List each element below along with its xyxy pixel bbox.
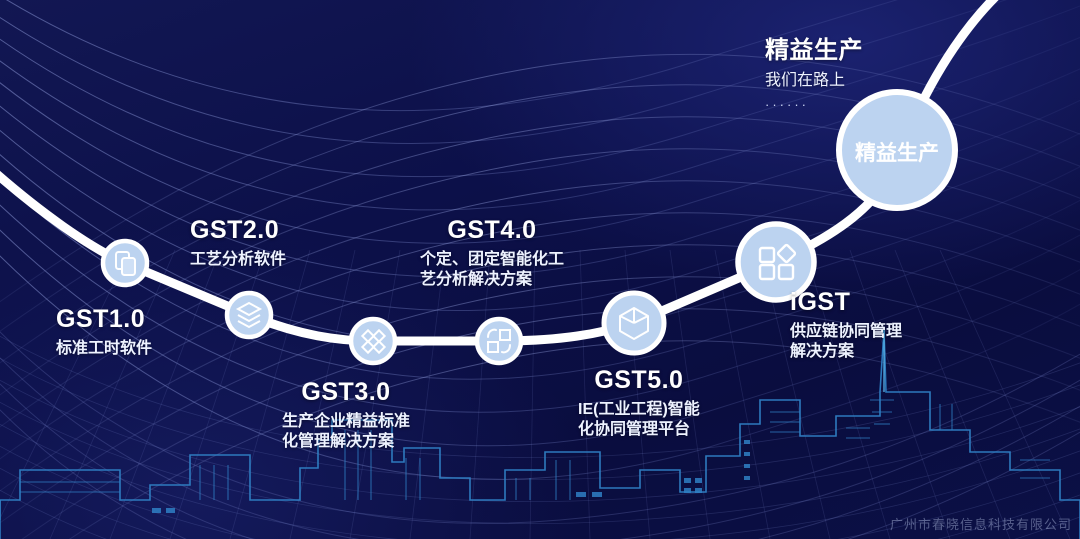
milestone-title: GST2.0 <box>190 216 286 245</box>
lean-dots: ······ <box>765 97 863 112</box>
lean-production-callout: 精益生产 我们在路上 ······ <box>765 30 863 112</box>
watermark: 广州市春晓信息科技有限公司 <box>890 514 1072 533</box>
milestone-desc: 工艺分析软件 <box>190 250 286 270</box>
node-gst1 <box>103 241 147 285</box>
milestone-title: GST4.0 <box>420 216 564 245</box>
milestone-desc: 标准工时软件 <box>56 339 152 359</box>
milestone-label-gst5: GST5.0 IE(工业工程)智能 化协同管理平台 <box>578 366 700 439</box>
milestone-desc: 个定、团定智能化工 艺分析解决方案 <box>420 250 564 289</box>
milestone-label-igst: iGST 供应链协同管理 解决方案 <box>790 288 902 361</box>
milestone-title: GST1.0 <box>56 305 152 334</box>
milestone-label-gst2: GST2.0 工艺分析软件 <box>190 216 286 270</box>
milestone-title: iGST <box>790 288 902 317</box>
node-gst5 <box>604 293 664 353</box>
milestone-title: GST3.0 <box>282 378 410 407</box>
milestone-desc: 生产企业精益标准 化管理解决方案 <box>282 412 410 451</box>
milestone-label-gst1: GST1.0 标准工时软件 <box>56 305 152 359</box>
lean-title: 精益生产 <box>765 30 863 65</box>
lean-subtitle: 我们在路上 <box>765 71 863 91</box>
milestone-title: GST5.0 <box>578 366 700 395</box>
node-gst4 <box>477 319 521 363</box>
milestone-label-gst4: GST4.0 个定、团定智能化工 艺分析解决方案 <box>420 216 564 289</box>
node-gst3 <box>351 319 395 363</box>
milestone-desc: IE(工业工程)智能 化协同管理平台 <box>578 400 700 439</box>
node-gst2 <box>227 293 271 337</box>
infographic-canvas: 精益生产 精益生产 我们在路上 ······ GST1.0 标准工时软件 GST… <box>0 0 1080 539</box>
milestone-label-gst3: GST3.0 生产企业精益标准 化管理解决方案 <box>282 378 410 451</box>
lean-circle-label: 精益生产 <box>839 137 955 167</box>
milestone-desc: 供应链协同管理 解决方案 <box>790 322 902 361</box>
